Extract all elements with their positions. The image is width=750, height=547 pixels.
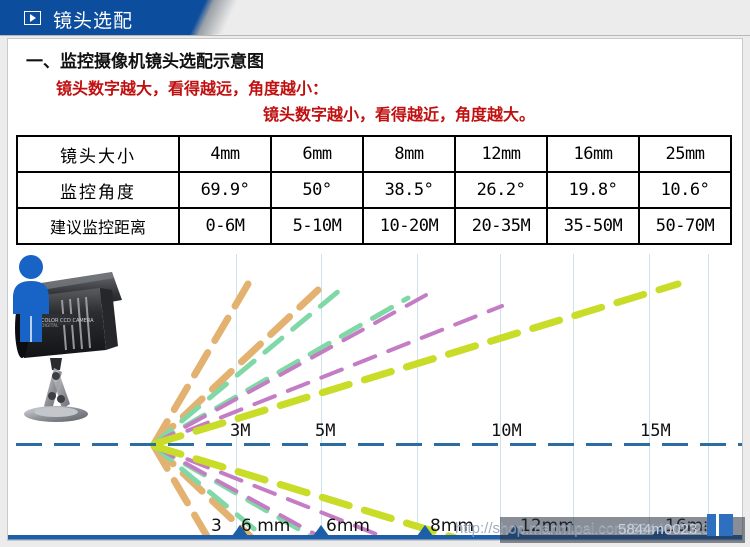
cell-lens-size-6: 25mm <box>639 136 731 172</box>
table-row: 建议监控距离 0-6M 5-10M 10-20M 20-35M 35-50M 5… <box>17 208 731 244</box>
cell-distance-3: 10-20M <box>363 208 455 244</box>
cell-lens-size-5: 16mm <box>547 136 639 172</box>
distance-label-10m: 10M <box>491 421 522 441</box>
distance-label-15m: 15M <box>640 421 671 441</box>
cell-angle-3: 38.5° <box>363 172 455 208</box>
slide-page: 镜头选配 一、监控摄像机镜头选配示意图 镜头数字越大，看得越远，角度越小： 镜头… <box>0 0 750 547</box>
cell-distance-5: 35-50M <box>547 208 639 244</box>
header-banner: 镜头选配 <box>0 0 750 36</box>
cell-angle-5: 19.8° <box>547 172 639 208</box>
cell-angle-1: 69.9° <box>179 172 271 208</box>
cell-lens-size-3: 8mm <box>363 136 455 172</box>
cell-lens-size-1: 4mm <box>179 136 271 172</box>
lens-spec-table: 镜头大小 4mm 6mm 8mm 12mm 16mm 25mm 监控角度 69.… <box>16 135 732 245</box>
table-row: 镜头大小 4mm 6mm 8mm 12mm 16mm 25mm <box>17 136 731 172</box>
cell-distance-2: 5-10M <box>271 208 363 244</box>
cell-lens-size-2: 6mm <box>271 136 363 172</box>
lens-label-3: 3 <box>211 516 222 536</box>
watermark-logo <box>707 514 733 536</box>
header-divider <box>0 35 750 36</box>
content-card: 一、监控摄像机镜头选配示意图 镜头数字越大，看得越远，角度越小： 镜头数字越小，… <box>7 38 743 541</box>
distance-axis <box>16 443 742 446</box>
distance-label-5m: 5M <box>315 421 335 441</box>
cell-angle-4: 26.2° <box>455 172 547 208</box>
distance-label-3m: 3M <box>230 421 250 441</box>
lens-label-6mm-b: 6mm <box>326 516 370 536</box>
cell-angle-6: 10.6° <box>639 172 731 208</box>
row-header-distance: 建议监控距离 <box>17 208 179 244</box>
cell-lens-size-4: 12mm <box>455 136 547 172</box>
lens-label-6mm-a: 6 mm <box>241 516 290 536</box>
watermark-logo-stripe <box>716 514 719 536</box>
row-header-lens-size: 镜头大小 <box>17 136 179 172</box>
play-triangle-icon <box>24 11 41 25</box>
section-heading: 一、监控摄像机镜头选配示意图 <box>26 47 264 72</box>
table-row: 监控角度 69.9° 50° 38.5° 26.2° 19.8° 10.6° <box>17 172 731 208</box>
person-pictogram <box>8 254 54 342</box>
watermark-code: 5844m0023 <box>618 521 697 538</box>
header-blue-curve-highlight <box>150 0 280 36</box>
cell-distance-1: 0-6M <box>179 208 271 244</box>
cell-angle-2: 50° <box>271 172 363 208</box>
header-title: 镜头选配 <box>53 6 133 33</box>
cell-distance-6: 50-70M <box>639 208 731 244</box>
note-line-1: 镜头数字越大，看得越远，角度越小： <box>56 75 328 99</box>
coverage-diagram: .r{fill:none;stroke-linecap:round;} .o{s… <box>8 254 742 541</box>
cell-distance-4: 20-35M <box>455 208 547 244</box>
note-line-2: 镜头数字越小，看得越近，角度越大。 <box>263 101 535 125</box>
row-header-view-angle: 监控角度 <box>17 172 179 208</box>
